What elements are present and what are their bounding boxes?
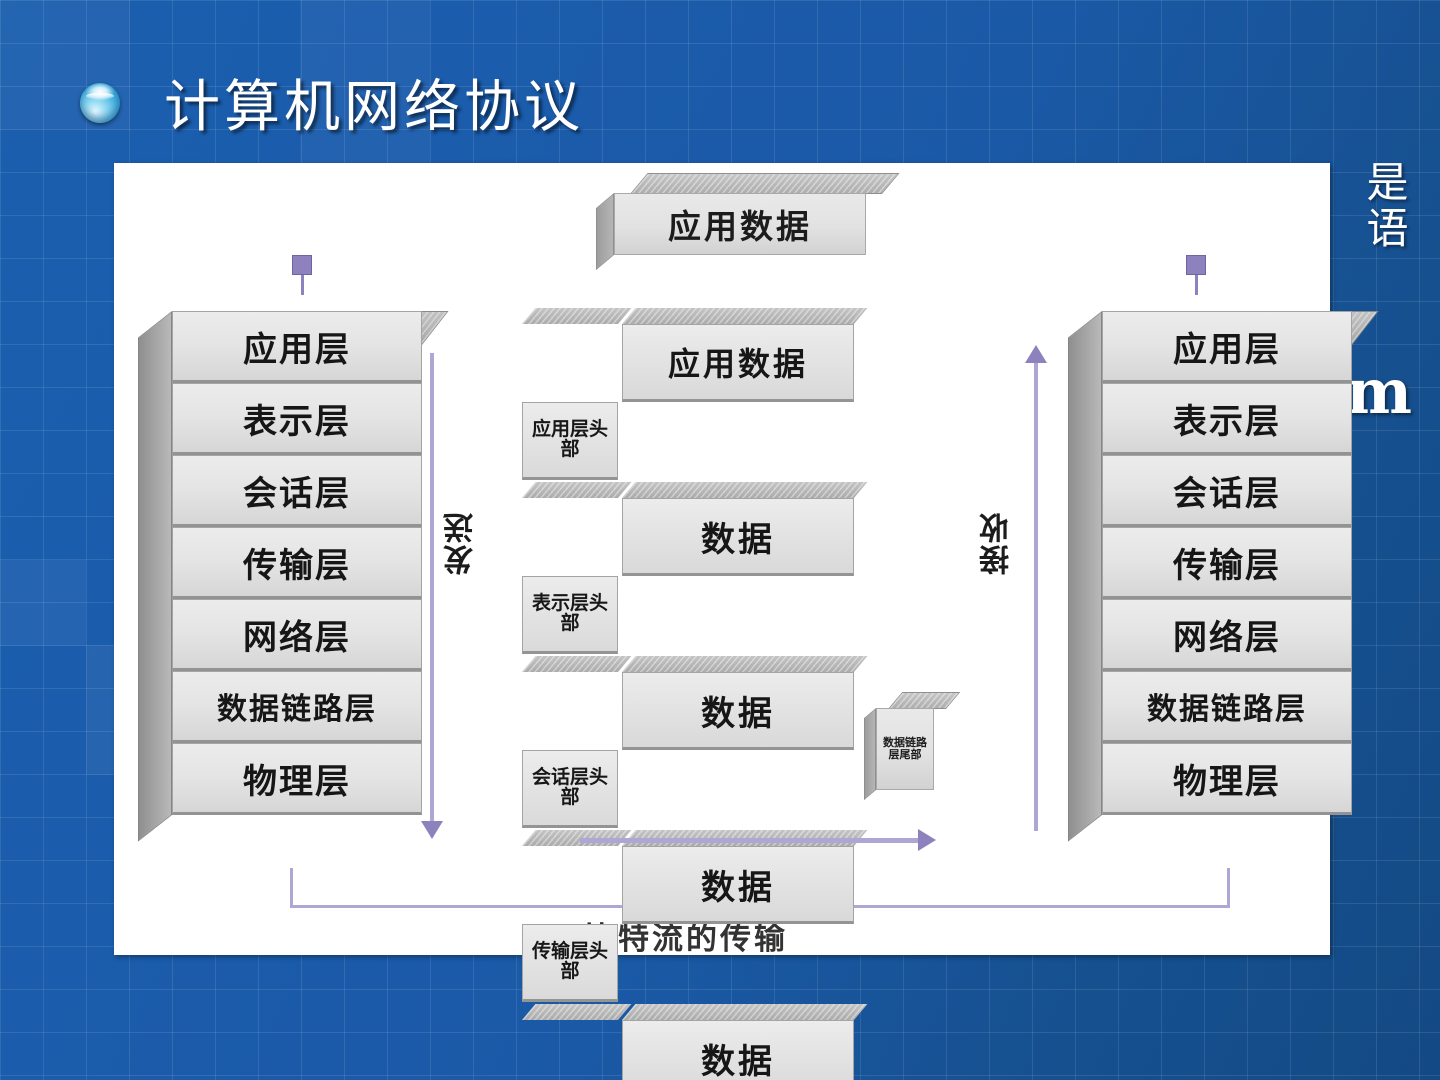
send-direction-arrow [430,353,434,823]
encapsulation-row: 会话层头部数据 [522,656,854,828]
header-top-face [522,308,631,324]
trailer-top-face [888,692,960,709]
encapsulation-row: 传输层头部数据 [522,830,854,1002]
receive-arrow-head [1025,345,1047,363]
left-layer-5[interactable]: 网络层 [172,599,422,671]
data-link-trailer-block: 数据链路层尾部 [876,708,934,790]
right-tower-side-face [1068,311,1102,842]
payload-top-face [622,482,867,498]
right-layer-5[interactable]: 网络层 [1102,599,1352,671]
slide-title-row: 计算机网络协议 [80,62,584,143]
top-data-label: 应用数据 [614,193,866,255]
page-title: 计算机网络协议 [164,62,584,143]
payload-top-face [622,1004,867,1020]
header-side-face [522,324,535,413]
trailer-side-face [864,708,876,800]
background-vertical-text: 是语 [1358,160,1411,252]
right-layer-7[interactable]: 物理层 [1102,743,1352,815]
send-arrow-label: 发送 [440,511,484,575]
header-side-face [522,672,535,761]
right-layer-2[interactable]: 表示层 [1102,383,1352,455]
transmission-arrow [580,838,920,843]
encapsulation-stack: 应用层头部应用数据表示层头部数据会话层头部数据传输层头部数据网络层头部数据数据链… [522,308,854,1080]
payload-top-face [622,656,867,672]
left-layer-7[interactable]: 物理层 [172,743,422,815]
layer-header-box[interactable]: 应用层头部 [522,402,618,480]
payload-box[interactable]: 应用数据 [622,324,854,402]
payload-top-face [622,308,867,324]
receive-arrow-label: 接收 [976,511,1020,575]
right-layer-4[interactable]: 传输层 [1102,527,1352,599]
layer-header-box[interactable]: 会话层头部 [522,750,618,828]
header-side-face [522,498,535,587]
payload-box[interactable]: 数据 [622,498,854,576]
left-pin-stem [301,275,304,295]
left-layer-6[interactable]: 数据链路层 [172,671,422,743]
left-layer-list: 应用层表示层会话层传输层网络层数据链路层物理层 [172,311,422,815]
left-layer-3[interactable]: 会话层 [172,455,422,527]
encapsulation-row: 表示层头部数据 [522,482,854,654]
encapsulation-row: 网络层头部数据 [522,1004,854,1080]
right-layer-3[interactable]: 会话层 [1102,455,1352,527]
receive-direction-arrow [1034,361,1038,831]
right-pin-square [1186,255,1206,275]
left-layer-2[interactable]: 表示层 [172,383,422,455]
right-layer-list: 应用层表示层会话层传输层网络层数据链路层物理层 [1102,311,1352,815]
right-layer-6[interactable]: 数据链路层 [1102,671,1352,743]
left-layer-4[interactable]: 传输层 [172,527,422,599]
block-side-face [596,193,614,270]
header-top-face [522,482,631,498]
payload-box[interactable]: 数据 [622,1020,854,1080]
right-tower-pin [1186,255,1206,295]
top-application-data-block: 应用数据 [614,193,866,255]
left-pin-square [292,255,312,275]
payload-box[interactable]: 数据 [622,846,854,924]
layer-header-box[interactable]: 传输层头部 [522,924,618,1002]
header-top-face [522,656,631,672]
payload-box[interactable]: 数据 [622,672,854,750]
header-side-face [522,1020,535,1080]
left-tower-side-face [138,311,172,842]
left-tower-pin [292,255,312,295]
send-arrow-head [421,821,443,839]
layer-header-box[interactable]: 表示层头部 [522,576,618,654]
diagram-panel: 应用数据 应用层表示层会话层传输层网络层数据链路层物理层 发送 应用层头部应用数… [114,163,1330,955]
receiver-protocol-stack: 应用层表示层会话层传输层网络层数据链路层物理层 [1102,311,1352,815]
left-layer-1[interactable]: 应用层 [172,311,422,383]
sphere-bullet-icon [80,83,120,123]
background-letter-text: m [1346,355,1412,428]
right-pin-stem [1195,275,1198,295]
sender-protocol-stack: 应用层表示层会话层传输层网络层数据链路层物理层 [172,311,422,815]
transmission-arrow-head [918,829,936,851]
block-top-face [630,173,900,194]
right-layer-1[interactable]: 应用层 [1102,311,1352,383]
header-top-face [522,1004,631,1020]
trailer-label: 数据链路层尾部 [876,708,934,790]
encapsulation-row: 应用层头部应用数据 [522,308,854,480]
